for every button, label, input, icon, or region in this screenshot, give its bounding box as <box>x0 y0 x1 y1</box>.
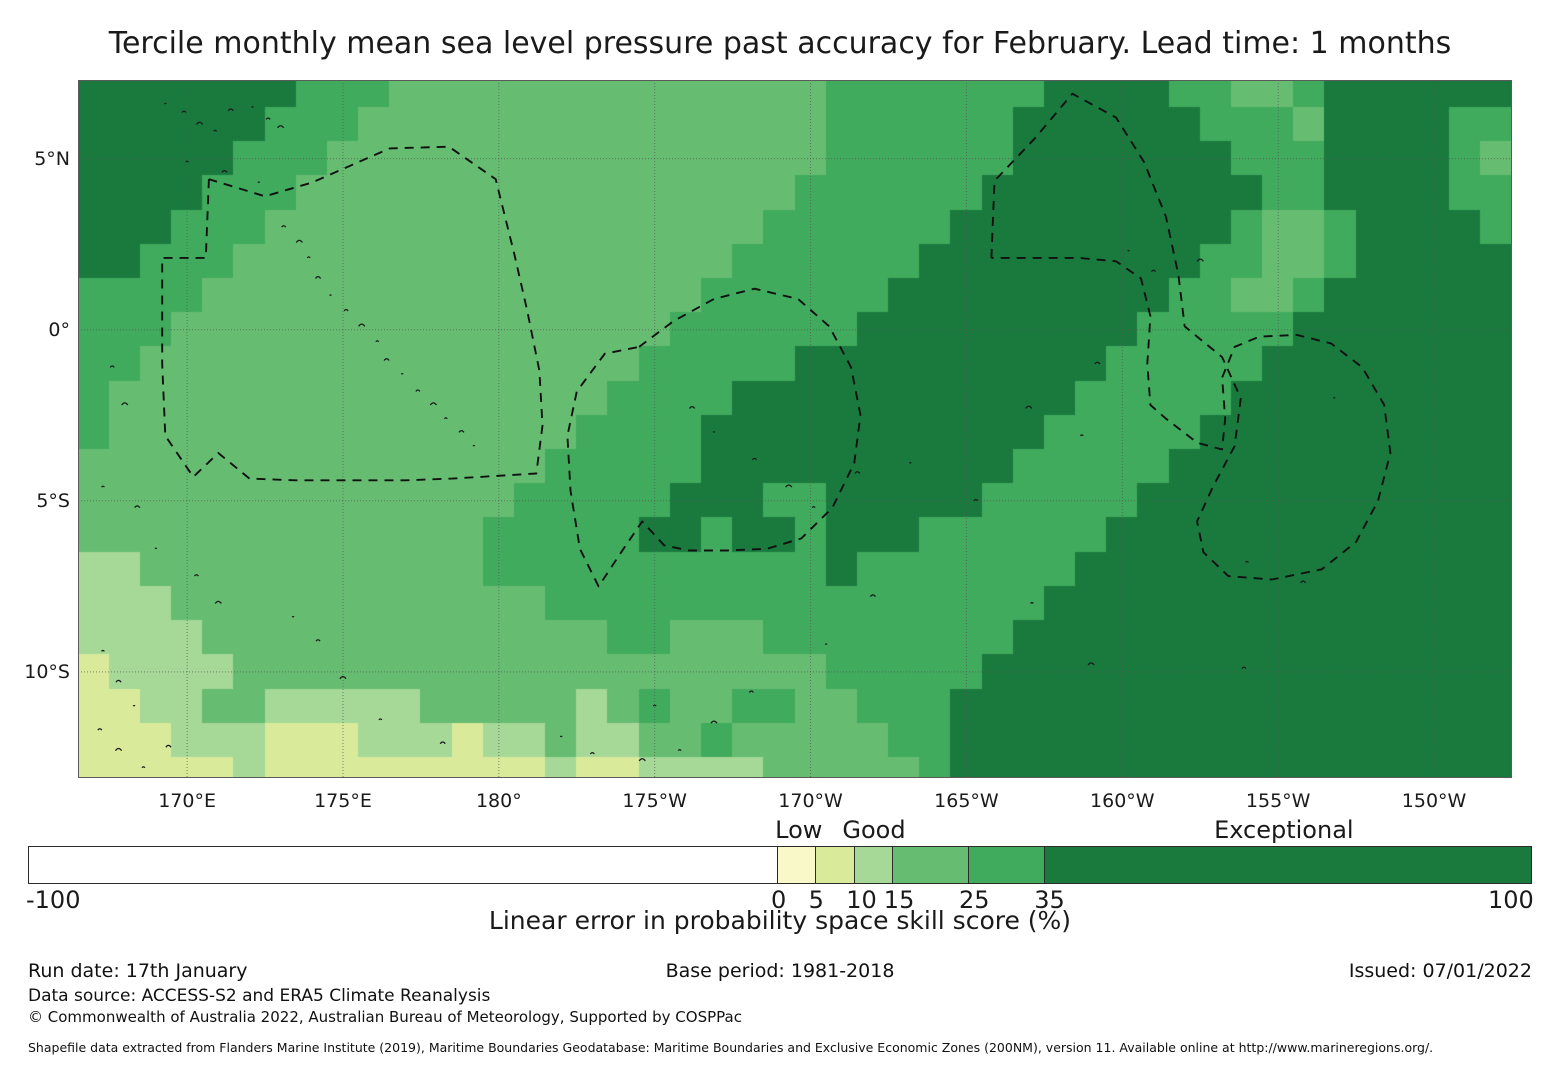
colorbar-category-label: Good <box>842 816 905 844</box>
latitude-tick-label: 0° <box>8 319 70 341</box>
map-overlay-layer <box>78 80 1512 778</box>
colorbar-segment <box>29 847 777 883</box>
colorbar-segment <box>1044 847 1531 883</box>
footer-copyright: © Commonwealth of Australia 2022, Austra… <box>28 1008 742 1026</box>
longitude-tick-label: 170°W <box>778 790 843 812</box>
longitude-tick-label: 180° <box>476 790 522 812</box>
footer-data-source: Data source: ACCESS-S2 and ERA5 Climate … <box>28 986 490 1006</box>
longitude-tick-label: 155°W <box>1246 790 1311 812</box>
island-coastlines <box>98 103 1335 767</box>
colorbar-segment <box>777 847 815 883</box>
colorbar-tick-label: 0 <box>771 886 786 914</box>
colorbar-segment <box>892 847 968 883</box>
colorbar-tick-label: 35 <box>1034 886 1065 914</box>
longitude-tick-label: 165°W <box>934 790 999 812</box>
map-gridlines <box>78 80 1512 778</box>
colorbar-category-label: Low <box>775 816 822 844</box>
longitude-tick-label: 170°E <box>158 790 216 812</box>
colorbar-tick-label: 5 <box>809 886 824 914</box>
longitude-tick-label: 160°W <box>1090 790 1155 812</box>
longitude-tick-label: 150°W <box>1402 790 1467 812</box>
footer-shapefile-attribution: Shapefile data extracted from Flanders M… <box>28 1040 1433 1055</box>
colorbar-tick-label: -100 <box>26 886 80 914</box>
colorbar-tick-label: 25 <box>959 886 990 914</box>
colorbar-tick-label: 15 <box>884 886 915 914</box>
colorbar-segment <box>968 847 1044 883</box>
longitude-tick-label: 175°E <box>314 790 372 812</box>
footer-base-period: Base period: 1981-2018 <box>0 960 1560 982</box>
latitude-tick-label: 5°N <box>8 148 70 170</box>
footer-issued-date: Issued: 07/01/2022 <box>1349 960 1532 982</box>
eez-boundary-lines <box>162 94 1390 587</box>
colorbar-tick-label: 10 <box>846 886 877 914</box>
latitude-tick-label: 10°S <box>8 661 70 683</box>
colorbar-segment <box>815 847 853 883</box>
colorbar-category-label: Exceptional <box>1214 816 1354 844</box>
colorbar-tick-label: 100 <box>1488 886 1534 914</box>
page-title: Tercile monthly mean sea level pressure … <box>0 26 1560 61</box>
map-panel <box>78 80 1512 778</box>
latitude-tick-label: 5°S <box>8 490 70 512</box>
longitude-tick-label: 175°W <box>622 790 687 812</box>
skill-score-colorbar <box>28 846 1532 884</box>
colorbar-segment <box>854 847 892 883</box>
